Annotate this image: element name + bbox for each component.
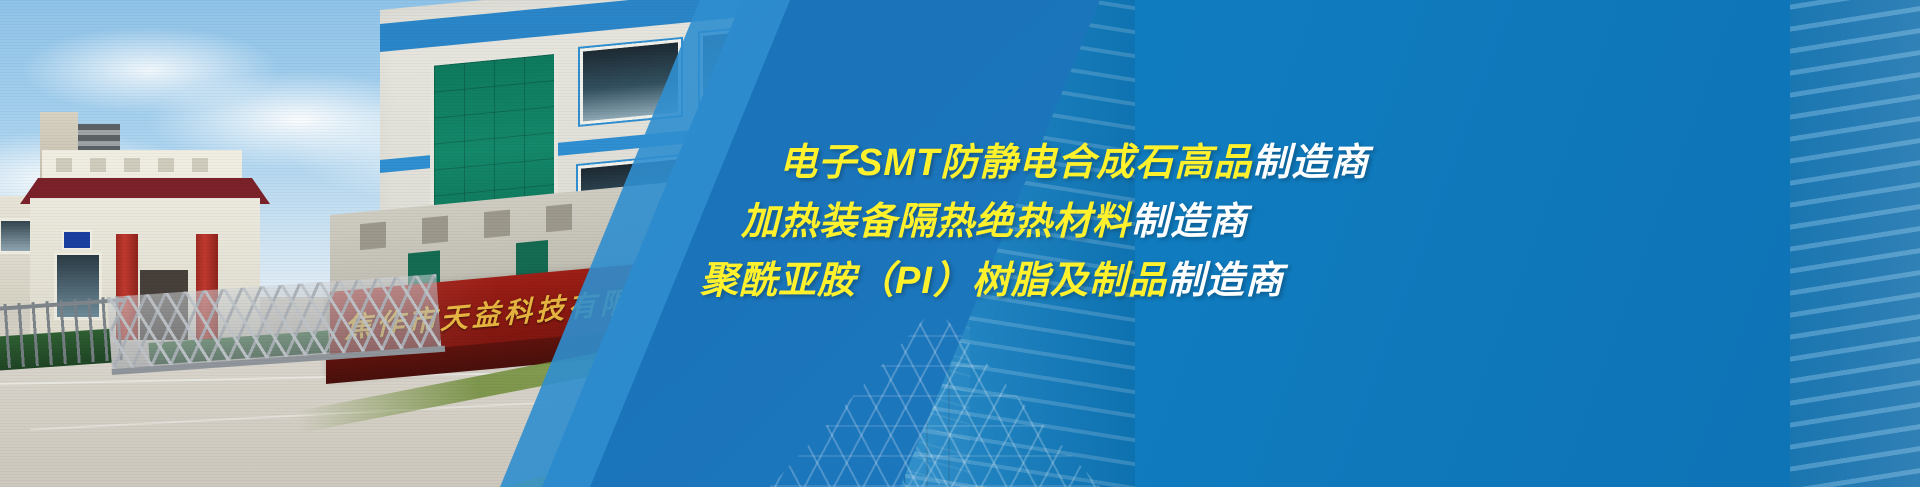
gate-house-plaque <box>62 230 92 250</box>
office-window <box>700 22 816 111</box>
parapet-notch <box>90 158 106 172</box>
gate-house-parapet <box>42 150 242 180</box>
office-window <box>580 39 681 125</box>
factory-entrance-photo: 焦作市天益科技有限公司 <box>0 0 960 487</box>
wall-slot <box>360 222 386 251</box>
wall-slot <box>484 210 510 239</box>
hero-banner: 焦作市天益科技有限公司 电子SMT防静电合成石高品制造商 加热装备 <box>0 0 1920 487</box>
wall-slot <box>422 216 448 245</box>
parapet-notch <box>124 158 140 172</box>
wall-slot <box>546 204 572 233</box>
parapet-notch <box>56 158 72 172</box>
parapet-notch <box>192 158 208 172</box>
parapet-notch <box>158 158 174 172</box>
skyscraper-facade-c <box>1790 0 1920 487</box>
